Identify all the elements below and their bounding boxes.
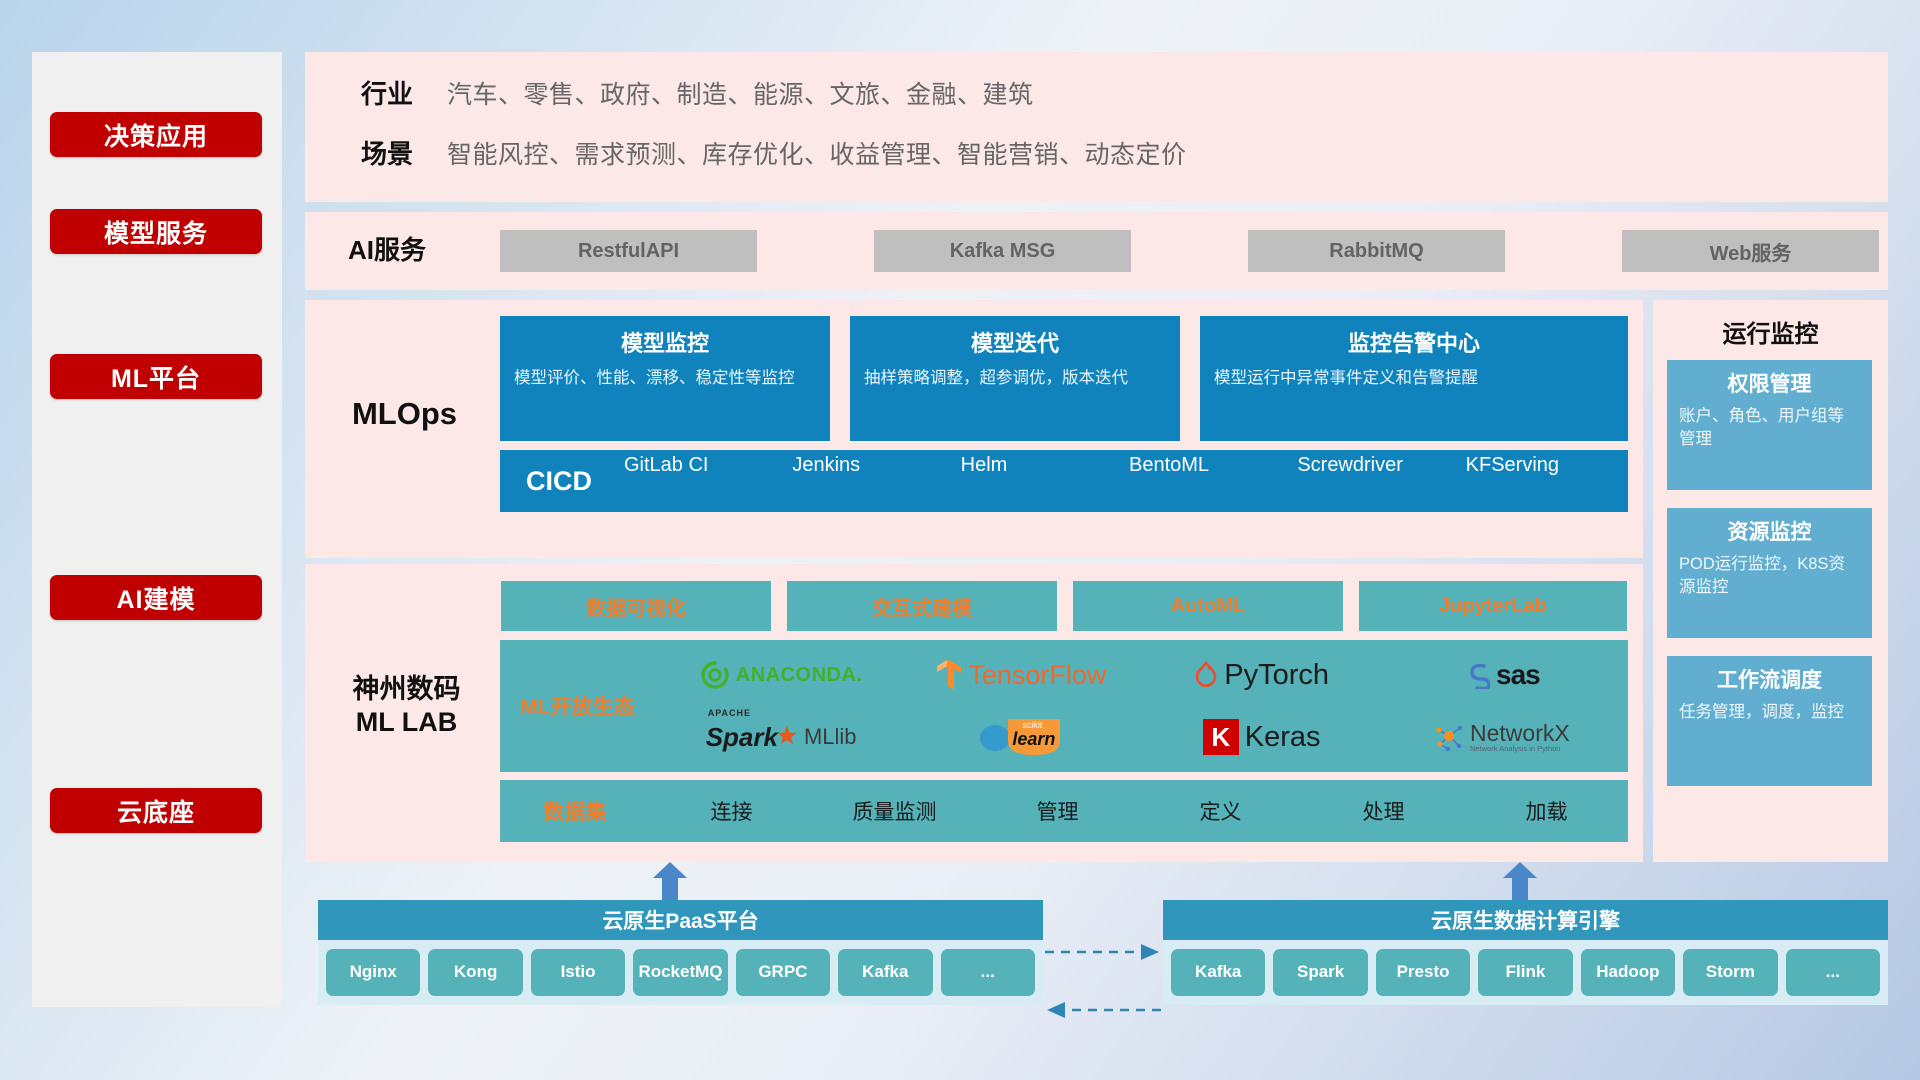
cicd-item-jenkins[interactable]: Jenkins: [786, 450, 954, 512]
cicd-toolchain-bar: CICD GitLab CI Jenkins Helm BentoML Scre…: [500, 450, 1628, 512]
monitor-card-workflow[interactable]: 工作流调度 任务管理，调度，监控: [1667, 656, 1872, 786]
compute-chip-kafka[interactable]: Kafka: [1171, 949, 1265, 996]
card-title: 监控告警中心: [1214, 326, 1614, 358]
lab-tile-data-visualization[interactable]: 数据可视化: [500, 580, 772, 632]
pytorch-mark-icon: [1194, 660, 1218, 690]
architecture-board: 行业 汽车、零售、政府、制造、能源、文旅、金融、建筑 场景 智能风控、需求预测、…: [305, 52, 1888, 952]
card-title: 模型监控: [514, 326, 816, 358]
ml-open-ecosystem-row: ML开放生态 ANACONDA. TensorFlow: [500, 640, 1628, 772]
industry-label: 行业: [327, 74, 447, 111]
dataset-item-load[interactable]: 加载: [1465, 796, 1628, 826]
cicd-item-bentoml[interactable]: BentoML: [1123, 450, 1291, 512]
anaconda-wordmark: ANACONDA.: [736, 664, 863, 687]
card-desc: 模型运行中异常事件定义和告警提醒: [1214, 367, 1614, 391]
lab-tile-automl[interactable]: AutoML: [1072, 580, 1344, 632]
paas-chip-istio[interactable]: Istio: [531, 949, 625, 996]
dataset-item-define[interactable]: 定义: [1139, 796, 1302, 826]
tensorflow-mark-icon: [936, 659, 962, 691]
pytorch-wordmark: PyTorch: [1224, 659, 1329, 692]
compute-chip-presto[interactable]: Presto: [1376, 949, 1470, 996]
anaconda-logo: ANACONDA.: [700, 660, 863, 690]
paas-chip-more[interactable]: ...: [941, 949, 1035, 996]
lab-tile-jupyterlab[interactable]: JupyterLab: [1358, 580, 1628, 632]
decision-application-band: 行业 汽车、零售、政府、制造、能源、文旅、金融、建筑 场景 智能风控、需求预测、…: [305, 52, 1888, 202]
card-title: 权限管理: [1679, 368, 1860, 398]
spark-mllib-logo: APACHE Spark MLlib: [706, 722, 857, 753]
scenario-label: 场景: [327, 134, 447, 171]
stack-layer-rail: 决策应用 模型服务 ML平台 AI建模 云底座: [32, 52, 282, 1007]
paas-component-tray: Nginx Kong Istio RocketMQ GRPC Kafka ...: [318, 940, 1043, 1005]
paas-chip-kafka[interactable]: Kafka: [838, 949, 932, 996]
networkx-wordmark: NetworkX: [1470, 722, 1570, 745]
runtime-monitoring-band: 运行监控 权限管理 账户、角色、用户组等管理 资源监控 POD运行监控，K8S资…: [1653, 300, 1888, 862]
tensorflow-logo: TensorFlow: [936, 659, 1106, 691]
spark-star-icon: [776, 725, 798, 747]
ai-service-band: AI服务 RestfulAPI Kafka MSG RabbitMQ Web服务: [305, 212, 1888, 290]
keras-mark-icon: K: [1203, 719, 1239, 755]
scenario-row: 场景 智能风控、需求预测、库存优化、收益管理、智能营销、动态定价: [327, 134, 1187, 171]
industry-values: 汽车、零售、政府、制造、能源、文旅、金融、建筑: [447, 75, 1034, 111]
cicd-label: CICD: [500, 466, 618, 497]
monitor-card-resource[interactable]: 资源监控 POD运行监控，K8S资源监控: [1667, 508, 1872, 638]
rail-chip-cloud-base[interactable]: 云底座: [50, 788, 262, 833]
sas-mark-icon: [1464, 661, 1490, 689]
paas-chip-rocketmq[interactable]: RocketMQ: [633, 949, 727, 996]
compute-chip-flink[interactable]: Flink: [1478, 949, 1572, 996]
dataset-row: 数据集 连接 质量监测 管理 定义 处理 加载: [500, 780, 1628, 842]
cloud-native-paas-block: 云原生PaaS平台 Nginx Kong Istio RocketMQ GRPC…: [318, 900, 1043, 1005]
bidirectional-connector: [1043, 938, 1163, 1030]
paas-title: 云原生PaaS平台: [318, 900, 1043, 940]
mlops-card-model-monitoring[interactable]: 模型监控 模型评价、性能、漂移、稳定性等监控: [500, 316, 830, 441]
rail-chip-ml-platform[interactable]: ML平台: [50, 354, 262, 399]
cicd-item-helm[interactable]: Helm: [955, 450, 1123, 512]
cicd-item-kfserving[interactable]: KFServing: [1460, 450, 1628, 512]
card-desc: 账户、角色、用户组等管理: [1679, 405, 1860, 451]
dataset-item-manage[interactable]: 管理: [976, 796, 1139, 826]
sas-wordmark: sas: [1496, 659, 1540, 691]
networkx-graph-icon: [1434, 722, 1464, 752]
scenario-values: 智能风控、需求预测、库存优化、收益管理、智能营销、动态定价: [447, 135, 1187, 171]
industry-row: 行业 汽车、零售、政府、制造、能源、文旅、金融、建筑: [327, 74, 1034, 111]
rail-chip-model-service[interactable]: 模型服务: [50, 209, 262, 254]
service-chip-rabbitmq[interactable]: RabbitMQ: [1248, 230, 1505, 272]
mllib-wordmark: MLlib: [804, 724, 857, 750]
sas-logo: sas: [1464, 659, 1540, 691]
cloud-native-compute-block: 云原生数据计算引擎 Kafka Spark Presto Flink Hadoo…: [1163, 900, 1888, 1005]
compute-chip-more[interactable]: ...: [1786, 949, 1880, 996]
uplink-arrow-paas: [650, 862, 690, 898]
scikit-learn-logo: scikit learn: [978, 717, 1064, 757]
cicd-item-gitlab-ci[interactable]: GitLab CI: [618, 450, 786, 512]
ml-lab-band: 神州数码 ML LAB 数据可视化 交互式建模 AutoML JupyterLa…: [305, 564, 1643, 862]
lab-tile-interactive-modeling[interactable]: 交互式建模: [786, 580, 1058, 632]
paas-chip-grpc[interactable]: GRPC: [736, 949, 830, 996]
cicd-item-screwdriver[interactable]: Screwdriver: [1291, 450, 1459, 512]
ml-lab-label-line2: ML LAB: [356, 706, 458, 739]
dataset-item-process[interactable]: 处理: [1302, 796, 1465, 826]
networkx-tagline: Network Analysis in Python: [1470, 745, 1570, 753]
card-desc: POD运行监控，K8S资源监控: [1679, 553, 1860, 599]
networkx-logo: NetworkX Network Analysis in Python: [1434, 722, 1570, 753]
card-title: 工作流调度: [1679, 664, 1860, 694]
learn-text: learn: [1012, 729, 1055, 750]
paas-chip-nginx[interactable]: Nginx: [326, 949, 420, 996]
spark-apache-text: APACHE: [708, 708, 751, 718]
ml-lab-label-line1: 神州数码: [353, 673, 461, 706]
card-desc: 模型评价、性能、漂移、稳定性等监控: [514, 367, 816, 391]
service-chip-kafka-msg[interactable]: Kafka MSG: [874, 230, 1131, 272]
compute-chip-storm[interactable]: Storm: [1683, 949, 1777, 996]
card-title: 资源监控: [1679, 516, 1860, 546]
dataset-item-quality[interactable]: 质量监测: [813, 796, 976, 826]
card-desc: 任务管理，调度，监控: [1679, 701, 1860, 724]
runtime-monitoring-title: 运行监控: [1653, 314, 1888, 349]
card-desc: 抽样策略调整，超参调优，版本迭代: [864, 367, 1166, 391]
monitor-card-permission[interactable]: 权限管理 账户、角色、用户组等管理: [1667, 360, 1872, 490]
ml-lab-label: 神州数码 ML LAB: [319, 669, 494, 743]
mlops-label: MLOps: [327, 390, 482, 438]
uplink-arrow-compute: [1500, 862, 1540, 898]
service-chip-restfulapi[interactable]: RestfulAPI: [500, 230, 757, 272]
pytorch-logo: PyTorch: [1194, 659, 1329, 692]
framework-logo-grid: ANACONDA. TensorFlow PyTorch: [655, 640, 1628, 772]
compute-chip-hadoop[interactable]: Hadoop: [1581, 949, 1675, 996]
mlops-card-alert-center[interactable]: 监控告警中心 模型运行中异常事件定义和告警提醒: [1200, 316, 1628, 441]
service-chip-web-service[interactable]: Web服务: [1622, 230, 1879, 272]
ai-service-label: AI服务: [327, 230, 447, 272]
tensorflow-wordmark: TensorFlow: [968, 660, 1106, 691]
card-title: 模型迭代: [864, 326, 1166, 358]
compute-chip-spark[interactable]: Spark: [1273, 949, 1367, 996]
eco-label: ML开放生态: [500, 691, 655, 721]
dataset-item-connect[interactable]: 连接: [650, 796, 813, 826]
keras-logo: K Keras: [1203, 719, 1321, 755]
compute-component-tray: Kafka Spark Presto Flink Hadoop Storm ..…: [1163, 940, 1888, 1005]
dataset-label: 数据集: [500, 796, 650, 826]
mlops-band: MLOps 模型监控 模型评价、性能、漂移、稳定性等监控 模型迭代 抽样策略调整…: [305, 300, 1643, 558]
mlops-card-model-iteration[interactable]: 模型迭代 抽样策略调整，超参调优，版本迭代: [850, 316, 1180, 441]
paas-chip-kong[interactable]: Kong: [428, 949, 522, 996]
keras-wordmark: Keras: [1245, 721, 1321, 754]
compute-title: 云原生数据计算引擎: [1163, 900, 1888, 940]
anaconda-mark-icon: [700, 660, 730, 690]
rail-chip-decision-app[interactable]: 决策应用: [50, 112, 262, 157]
rail-chip-ai-modeling[interactable]: AI建模: [50, 575, 262, 620]
spark-wordmark: Spark: [706, 722, 778, 753]
